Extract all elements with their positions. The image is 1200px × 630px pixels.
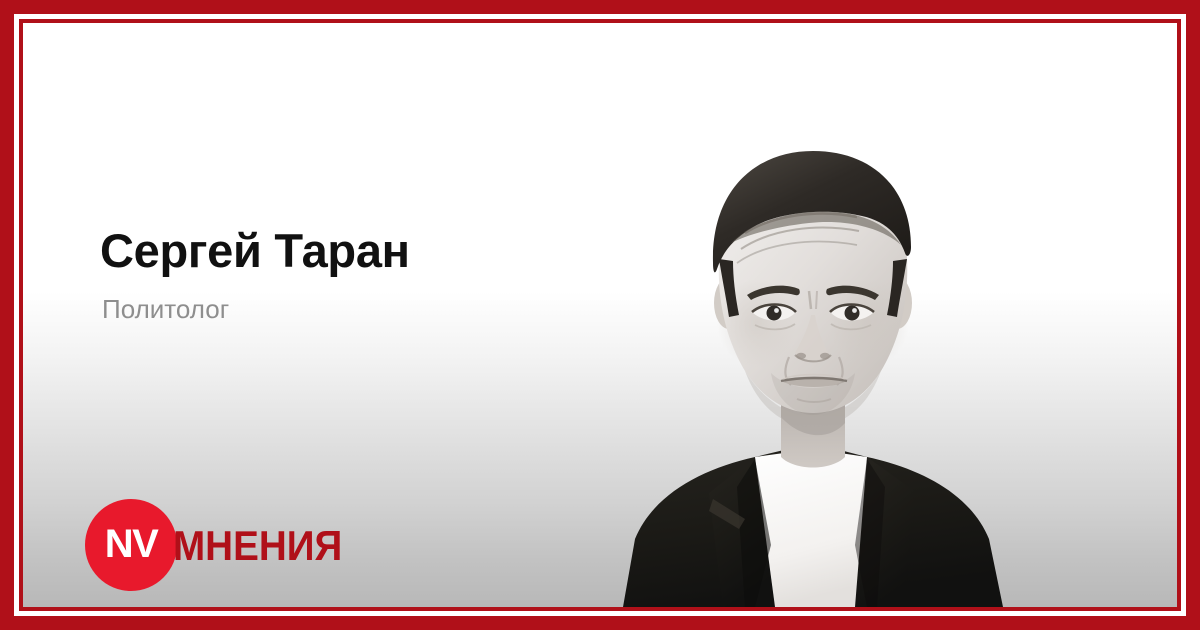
nv-opinion-logo[interactable]: NV МНЕНИЯ xyxy=(85,499,357,591)
nv-circle-icon: NV xyxy=(85,499,177,591)
nv-opinion-card: Сергей Таран Политолог NV МНЕНИЯ xyxy=(0,0,1200,630)
author-role: Политолог xyxy=(102,295,229,324)
card-canvas: Сергей Таран Политолог NV МНЕНИЯ xyxy=(23,23,1177,607)
logo-wordmark: МНЕНИЯ xyxy=(173,525,342,567)
author-portrait-photo xyxy=(605,127,1177,607)
author-name: Сергей Таран xyxy=(100,226,410,275)
nv-logo-text: NV xyxy=(105,524,158,564)
